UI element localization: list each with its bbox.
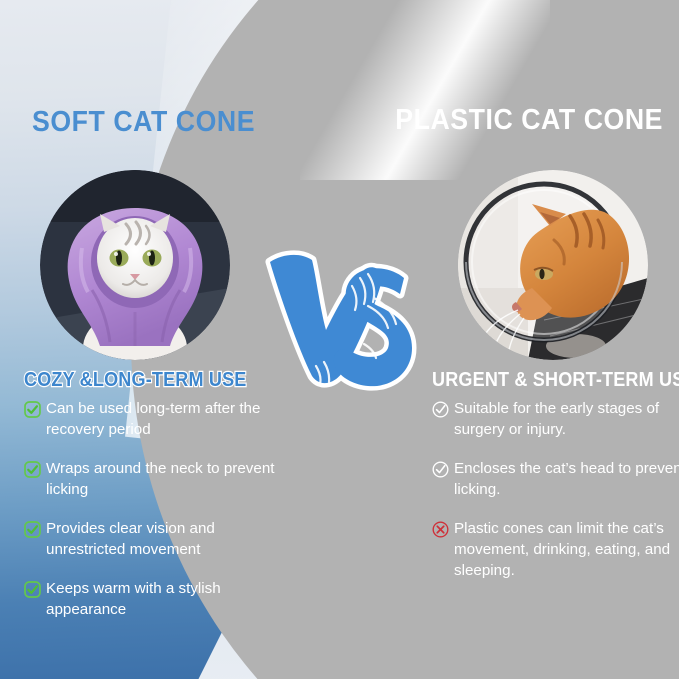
- list-item: Can be used long-term after the recovery…: [24, 399, 292, 441]
- list-item-text: Suitable for the early stages of surgery…: [454, 399, 679, 441]
- right-panel-top-fill: [470, 0, 679, 110]
- list-item-text: Encloses the cat’s head to prevent licki…: [454, 459, 679, 501]
- list-item: Suitable for the early stages of surgery…: [432, 399, 679, 441]
- left-feature-subtitle: COZY &LONG-TERM USE: [24, 368, 260, 392]
- right-product-title: PLASTIC CAT CONE: [395, 104, 663, 137]
- list-item: Encloses the cat’s head to prevent licki…: [432, 459, 679, 501]
- left-feature-column: COZY &LONG-TERM USE Can be used long-ter…: [24, 368, 292, 621]
- list-item-text: Can be used long-term after the recovery…: [46, 399, 292, 441]
- list-item: Wraps around the neck to prevent licking: [24, 459, 292, 501]
- right-feature-column: URGENT & SHORT-TERM USE Suitable for the…: [432, 368, 679, 582]
- list-item: Plastic cones can limit the cat’s moveme…: [432, 519, 679, 582]
- list-item-text: Wraps around the neck to prevent licking: [46, 459, 292, 501]
- left-product-title: SOFT CAT CONE: [32, 106, 255, 139]
- white-check-icon: [432, 461, 449, 478]
- list-item-text: Plastic cones can limit the cat’s moveme…: [454, 519, 679, 582]
- list-item: Keeps warm with a stylish appearance: [24, 579, 292, 621]
- green-check-icon: [24, 401, 41, 418]
- green-check-icon: [24, 581, 41, 598]
- soft-cone-cat-photo: [40, 170, 230, 360]
- plastic-cone-cat-photo: [458, 170, 648, 360]
- right-feature-subtitle: URGENT & SHORT-TERM USE: [432, 368, 668, 392]
- list-item-text: Provides clear vision and unrestricted m…: [46, 519, 292, 561]
- left-bullet-list: Can be used long-term after the recovery…: [24, 399, 292, 621]
- list-item-text: Keeps warm with a stylish appearance: [46, 579, 292, 621]
- white-check-icon: [432, 401, 449, 418]
- right-bullet-list: Suitable for the early stages of surgery…: [432, 399, 679, 582]
- comparison-infographic: SOFT CAT CONE PLASTIC CAT CONE: [0, 0, 679, 679]
- green-check-icon: [24, 521, 41, 538]
- green-check-icon: [24, 461, 41, 478]
- list-item: Provides clear vision and unrestricted m…: [24, 519, 292, 561]
- red-cross-icon: [432, 521, 449, 538]
